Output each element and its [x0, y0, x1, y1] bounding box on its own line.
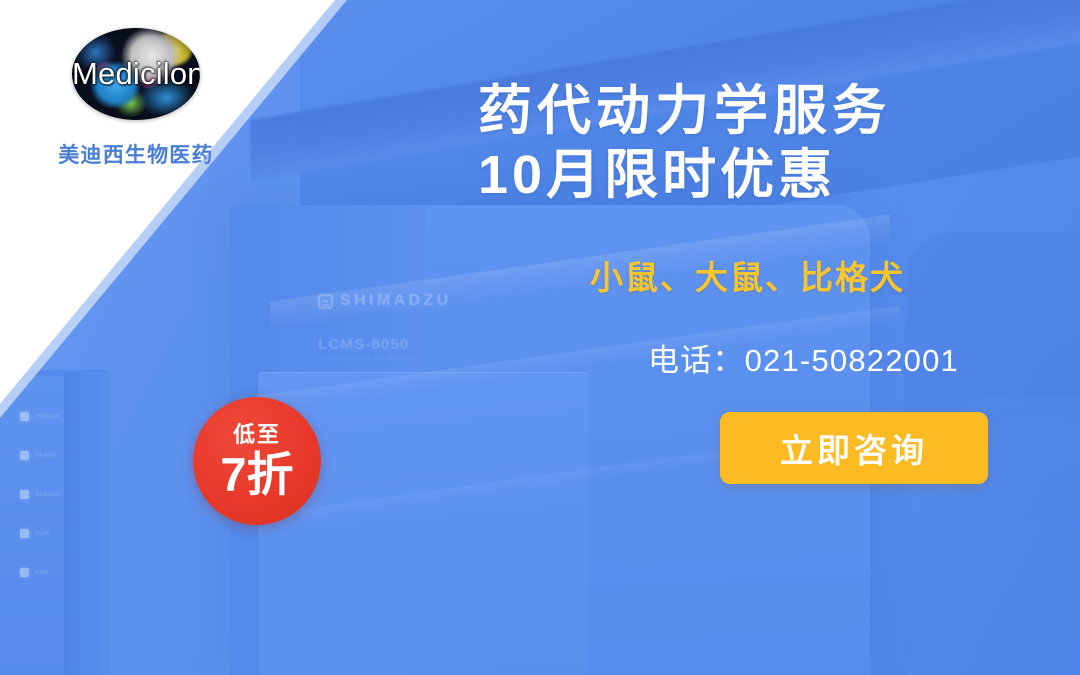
promo-banner: POWER READY STATUS RUN ERR SH — [0, 0, 1080, 675]
indicator-label: READY — [35, 453, 58, 459]
instrument-model-subtitle: Liquid Chromatograph Mass Spectrometer — [318, 356, 452, 361]
indicator-row: RUN — [20, 529, 110, 538]
brand-row: SHIMADZU — [318, 292, 452, 310]
promo-copy-block: 药代动力学服务 10月限时优惠 小鼠、大鼠、比格犬 电话：021-5082200… — [478, 80, 1038, 484]
led-indicator-icon — [20, 451, 29, 460]
brand-logo-lockup: Medicilon 美迪西生物医药 — [46, 28, 226, 169]
discount-badge-prefix: 低至 — [233, 424, 281, 446]
discount-badge: 低至 7折 — [193, 397, 321, 525]
species-subheadline: 小鼠、大鼠、比格犬 — [478, 251, 1038, 299]
contact-phone: 电话：021-50822001 — [478, 335, 1038, 380]
indicator-label: ERR — [35, 570, 49, 576]
headline-line-2: 10月限时优惠 — [478, 144, 1038, 208]
instrument-model-name: LCMS-8050 — [318, 336, 452, 353]
instrument-brand-name: SHIMADZU — [340, 292, 452, 310]
shimadzu-logo-icon — [318, 294, 333, 309]
discount-badge-value: 7折 — [220, 451, 293, 498]
indicator-row: POWER — [20, 412, 110, 421]
indicator-row: STATUS — [20, 490, 110, 499]
indicator-row: READY — [20, 451, 110, 460]
instrument-branding: SHIMADZU LCMS-8050 Liquid Chromatograph … — [318, 292, 452, 361]
company-name-chinese: 美迪西生物医药 — [46, 139, 226, 169]
medicilon-logo-icon: Medicilon — [72, 28, 200, 120]
led-indicator-icon — [20, 568, 29, 577]
led-indicator-icon — [20, 412, 29, 421]
indicator-label: STATUS — [35, 492, 60, 498]
indicator-row: ERR — [20, 568, 110, 577]
indicator-label: RUN — [35, 531, 49, 537]
instrument-indicator-panel: POWER READY STATUS RUN ERR — [20, 412, 110, 607]
logo-wordmark: Medicilon — [72, 56, 200, 92]
headline-line-1: 药代动力学服务 — [478, 80, 1038, 144]
led-indicator-icon — [20, 490, 29, 499]
consult-now-button[interactable]: 立即咨询 — [720, 412, 988, 484]
led-indicator-icon — [20, 529, 29, 538]
indicator-label: POWER — [35, 414, 60, 420]
